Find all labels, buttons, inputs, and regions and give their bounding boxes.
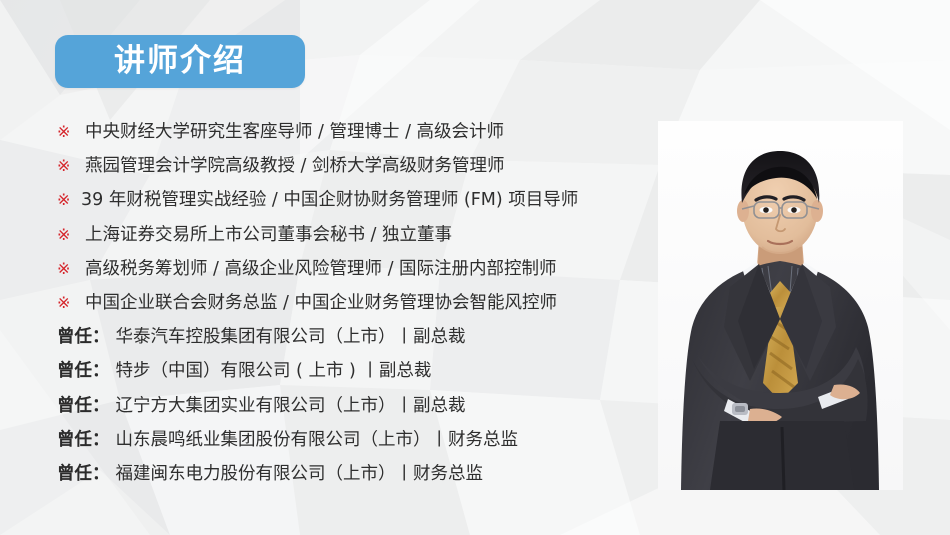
credential-text: 中央财经大学研究生客座导师 / 管理博士 / 高级会计师 xyxy=(85,118,504,143)
slide-root: 讲师介绍 ※ 中央财经大学研究生客座导师 / 管理博士 / 高级会计师 ※ 燕园… xyxy=(0,0,950,535)
reference-mark-icon: ※ xyxy=(57,192,81,208)
position-prefix-label: 曾任： xyxy=(57,460,116,485)
position-text: 特步（中国）有限公司 ( 上市 ) 丨副总裁 xyxy=(116,357,432,382)
position-text: 山东晨鸣纸业集团股份有限公司（上市）丨财务总监 xyxy=(116,426,519,451)
position-prefix-label: 曾任： xyxy=(57,392,116,417)
credential-row: ※ 中国企业联合会财务总监 / 中国企业财务管理协会智能风控师 xyxy=(57,289,657,323)
position-row: 曾任： 山东晨鸣纸业集团股份有限公司（上市）丨财务总监 xyxy=(57,426,657,460)
credential-row: ※ 39 年财税管理实战经验 / 中国企财协财务管理师 (FM) 项目导师 xyxy=(57,186,657,220)
reference-mark-icon: ※ xyxy=(57,124,85,140)
credential-row: ※ 上海证券交易所上市公司董事会秘书 / 独立董事 xyxy=(57,221,657,255)
section-title-label: 讲师介绍 xyxy=(114,46,246,77)
position-prefix-label: 曾任： xyxy=(57,323,116,348)
reference-mark-icon: ※ xyxy=(57,158,85,174)
credential-text: 上海证券交易所上市公司董事会秘书 / 独立董事 xyxy=(85,221,452,246)
credential-text: 中国企业联合会财务总监 / 中国企业财务管理协会智能风控师 xyxy=(85,289,557,314)
position-prefix-label: 曾任： xyxy=(57,357,116,382)
credential-text: 高级税务筹划师 / 高级企业风险管理师 / 国际注册内部控制师 xyxy=(85,255,557,280)
credential-text: 燕园管理会计学院高级教授 / 剑桥大学高级财务管理师 xyxy=(85,152,505,177)
position-row: 曾任： 华泰汽车控股集团有限公司（上市）丨副总裁 xyxy=(57,323,657,357)
position-row: 曾任： 特步（中国）有限公司 ( 上市 ) 丨副总裁 xyxy=(57,357,657,391)
section-title-badge: 讲师介绍 xyxy=(55,35,305,88)
reference-mark-icon: ※ xyxy=(57,295,85,311)
credential-row: ※ 高级税务筹划师 / 高级企业风险管理师 / 国际注册内部控制师 xyxy=(57,255,657,289)
position-row: 曾任： 辽宁方大集团实业有限公司（上市）丨副总裁 xyxy=(57,392,657,426)
position-text: 辽宁方大集团实业有限公司（上市）丨副总裁 xyxy=(116,392,466,417)
position-row: 曾任： 福建闽东电力股份有限公司（上市）丨财务总监 xyxy=(57,460,657,494)
credential-text: 39 年财税管理实战经验 / 中国企财协财务管理师 (FM) 项目导师 xyxy=(81,186,578,211)
position-prefix-label: 曾任： xyxy=(57,426,116,451)
instructor-portrait-photo xyxy=(658,121,903,490)
portrait-illustration xyxy=(658,121,903,490)
credential-row: ※ 燕园管理会计学院高级教授 / 剑桥大学高级财务管理师 xyxy=(57,152,657,186)
reference-mark-icon: ※ xyxy=(57,261,85,277)
position-text: 华泰汽车控股集团有限公司（上市）丨副总裁 xyxy=(116,323,466,348)
credential-row: ※ 中央财经大学研究生客座导师 / 管理博士 / 高级会计师 xyxy=(57,118,657,152)
instructor-bio-list: ※ 中央财经大学研究生客座导师 / 管理博士 / 高级会计师 ※ 燕园管理会计学… xyxy=(57,118,657,494)
reference-mark-icon: ※ xyxy=(57,227,85,243)
position-text: 福建闽东电力股份有限公司（上市）丨财务总监 xyxy=(116,460,484,485)
